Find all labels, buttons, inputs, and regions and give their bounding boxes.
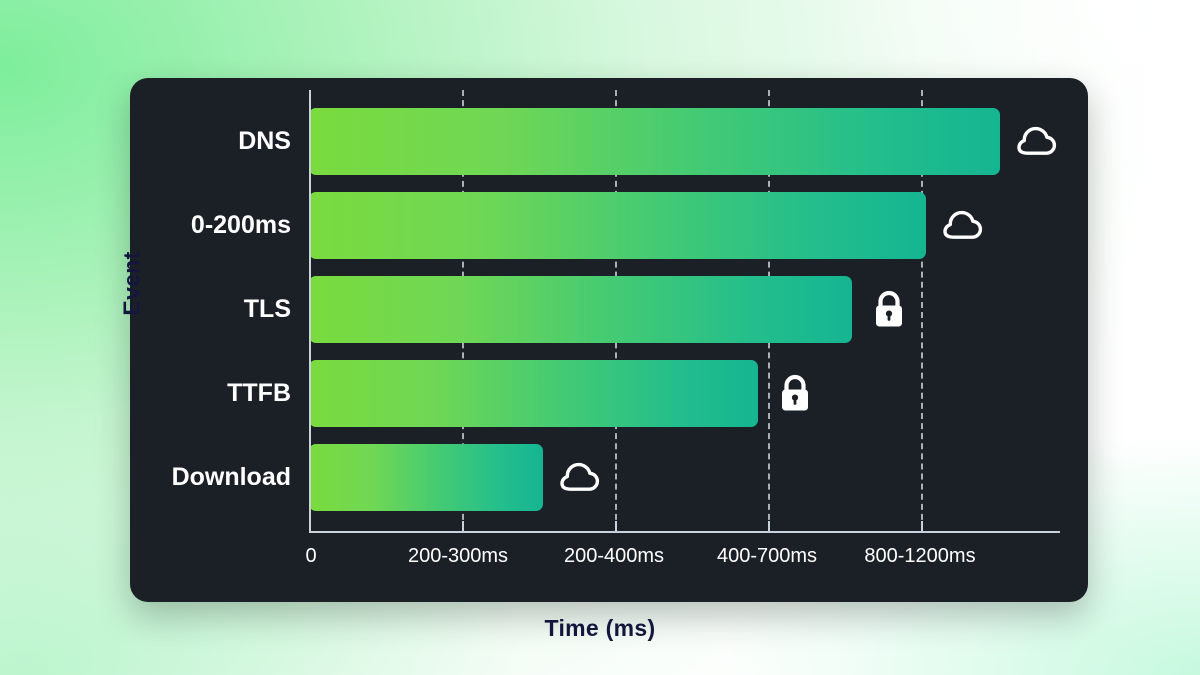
bar-0-200ms[interactable] (309, 192, 926, 259)
bar-dns[interactable] (309, 108, 1000, 175)
y-tick-label-ttfb: TTFB (227, 360, 309, 427)
x-tick-mark-2 (615, 521, 617, 532)
y-tick-label-tls: TLS (244, 276, 309, 343)
y-axis-line (309, 90, 311, 532)
x-tick-label-1: 200-300ms (408, 545, 508, 568)
x-tick-mark-3 (768, 521, 770, 532)
bar-ttfb[interactable] (309, 360, 758, 427)
y-axis-tick-labels: DNS 0-200ms TLS TTFB Download (0, 90, 309, 530)
plot-area (309, 90, 1060, 530)
x-tick-label-4: 800-1200ms (864, 545, 975, 568)
lock-filled-icon (866, 287, 912, 333)
y-tick-label-0-200ms: 0-200ms (191, 192, 309, 259)
cloud-outline-icon (1014, 119, 1060, 165)
x-axis-line (309, 531, 1060, 533)
x-tick-mark-1 (462, 521, 464, 532)
bar-download[interactable] (309, 444, 543, 511)
y-tick-label-download: Download (172, 444, 309, 511)
lock-filled-icon (772, 371, 818, 417)
x-axis-title: Time (ms) (0, 615, 1200, 642)
x-tick-label-2: 200-400ms (564, 545, 664, 568)
x-tick-label-0: 0 (305, 545, 316, 568)
x-tick-mark-0 (309, 521, 311, 532)
x-tick-label-3: 400-700ms (717, 545, 817, 568)
cloud-outline-icon (557, 455, 603, 501)
bar-tls[interactable] (309, 276, 852, 343)
chart-canvas: Event (0, 0, 1200, 675)
cloud-outline-icon (940, 203, 986, 249)
x-tick-mark-4 (921, 521, 923, 532)
y-tick-label-dns: DNS (238, 108, 309, 175)
